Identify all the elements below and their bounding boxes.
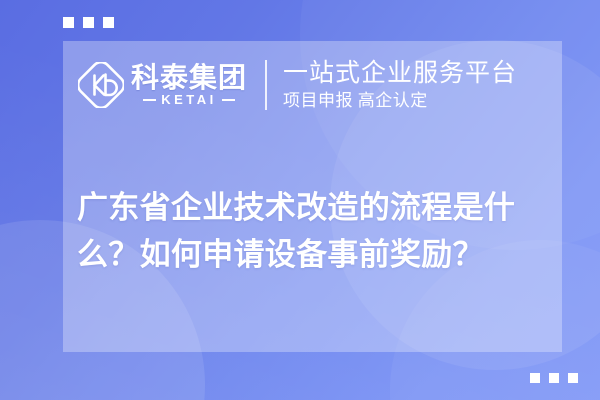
promo-banner: 科泰集团 KETAI 一站式企业服务平台 项目申报 高企认定 广东省企业技术改造… <box>0 0 600 400</box>
square-dot <box>83 17 94 28</box>
three-squares-icon-top-left <box>63 17 114 28</box>
brand-pinyin-row: KETAI <box>131 93 247 107</box>
tagline-main: 一站式企业服务平台 <box>283 59 517 88</box>
vertical-divider-icon <box>265 60 267 110</box>
ketai-diamond-monogram-icon <box>78 62 124 108</box>
square-dot <box>103 17 114 28</box>
square-dot <box>530 373 540 383</box>
dash-left-icon <box>143 99 156 101</box>
square-dot <box>549 373 559 383</box>
brand-logotype: 科泰集团 KETAI <box>131 63 247 107</box>
tagline-sub: 项目申报 高企认定 <box>283 91 517 111</box>
tagline-block: 一站式企业服务平台 项目申报 高企认定 <box>283 59 517 111</box>
brand-header: 科泰集团 KETAI 一站式企业服务平台 项目申报 高企认定 <box>78 49 552 121</box>
brand-pinyin: KETAI <box>161 93 217 107</box>
square-dot <box>63 17 74 28</box>
square-dot <box>568 373 578 383</box>
content-card: 科泰集团 KETAI 一站式企业服务平台 项目申报 高企认定 广东省企业技术改造… <box>63 41 562 352</box>
brand-name: 科泰集团 <box>131 63 247 92</box>
three-squares-icon-bottom-right <box>530 373 578 383</box>
dash-right-icon <box>222 99 235 101</box>
page-title: 广东省企业技术改造的流程是什么？如何申请设备事前奖励？ <box>77 184 554 278</box>
